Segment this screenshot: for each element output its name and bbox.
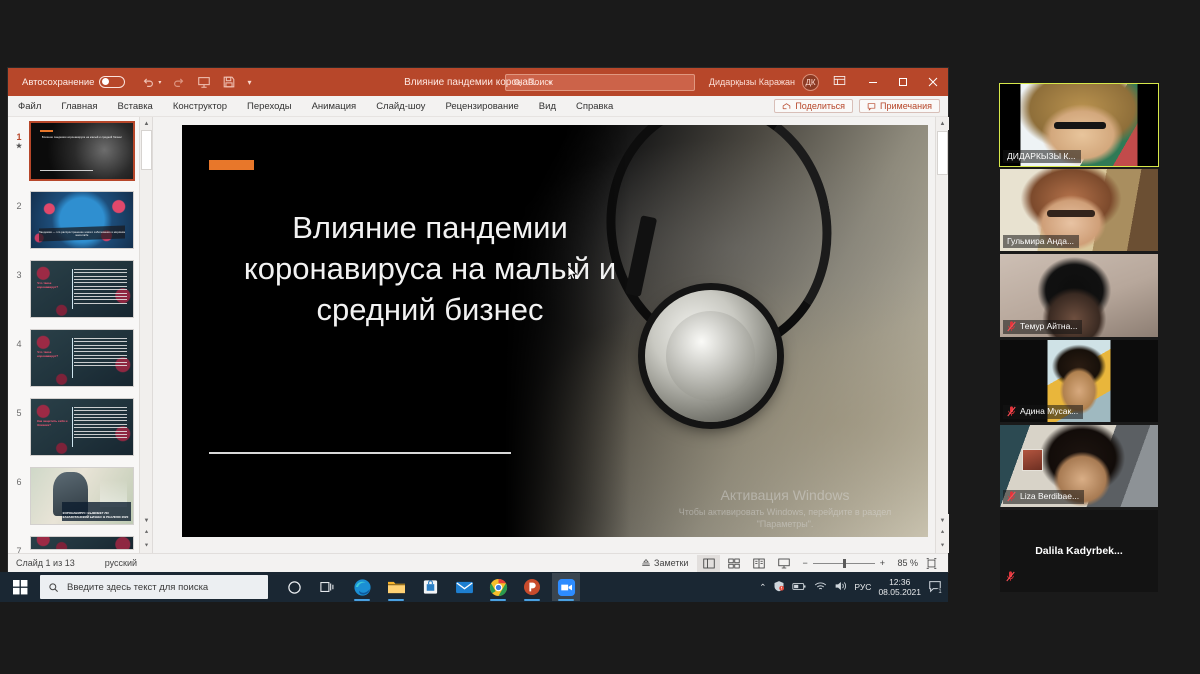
tab-review[interactable]: Рецензирование	[435, 96, 528, 117]
participant-name-bar: Liza Berdibae...	[1003, 490, 1084, 504]
edge-icon[interactable]	[348, 573, 376, 601]
thumbnail-item-7[interactable]: 7	[8, 536, 139, 553]
thumbnail-preview[interactable]	[30, 536, 134, 550]
thumbnail-caption: КОРОНАВИРУС: ВЫЖИВЕТ ЛИ КАЗАХСТАНСКИЙ БИ…	[63, 512, 130, 520]
thumbnail-number: 2	[8, 191, 30, 212]
thumbnail-number: 4	[8, 329, 30, 350]
comments-button[interactable]: Примечания	[859, 99, 940, 113]
normal-view-icon[interactable]	[697, 555, 720, 572]
accent-bar	[40, 130, 53, 132]
thumbnail-item-5[interactable]: 5 Как защитить себя и близких?	[8, 398, 139, 456]
mouse-cursor-icon	[567, 265, 578, 281]
status-bar: Слайд 1 из 13 русский Заметки	[8, 553, 948, 572]
user-name[interactable]: Дидарқызы Каражан	[709, 77, 795, 87]
powerpoint-icon[interactable]	[518, 573, 546, 601]
scrollbar-thumb[interactable]	[937, 131, 948, 175]
battery-icon[interactable]	[792, 581, 807, 594]
clock-date: 08.05.2021	[878, 587, 921, 597]
text-lines	[74, 269, 127, 306]
title-dropdown-icon[interactable]: ▾	[548, 80, 552, 87]
minimize-button[interactable]	[858, 68, 888, 96]
zoom-level[interactable]: 85 %	[892, 558, 918, 568]
redo-icon[interactable]	[172, 75, 186, 89]
thumbnail-preview[interactable]: Как защитить себя и близких?	[30, 398, 134, 456]
thumbnail-item-3[interactable]: 3 Что такое коронавирус?	[8, 260, 139, 318]
customize-qat-icon[interactable]: ▾	[247, 78, 251, 87]
current-slide[interactable]: Влияние пандемии коронавируса на малый и…	[182, 125, 928, 537]
participant-tile[interactable]: Темур Айтна...	[1000, 254, 1158, 336]
thumbnail-preview[interactable]: Что такое коронавирус?	[30, 260, 134, 318]
search-icon	[48, 582, 59, 593]
slideshow-icon[interactable]	[772, 555, 795, 572]
thumbnail-item-2[interactable]: 2 Пандемия — это распространение нового …	[8, 191, 139, 249]
windows-taskbar: Введите здесь текст для поиска	[0, 572, 948, 602]
tab-slideshow[interactable]: Слайд-шоу	[366, 96, 435, 117]
participant-name: ДИДАРКЫЗЫ К...	[1007, 151, 1076, 161]
divider-line	[72, 407, 73, 447]
thumbnail-preview[interactable]: Влияние пандемии коронавируса на малый и…	[30, 122, 134, 180]
ribbon-tabs: Файл Главная Вставка Конструктор Переход…	[8, 96, 948, 117]
quick-access-toolbar: ▾ ▾	[141, 75, 251, 89]
text-lines	[74, 407, 127, 441]
participant-name-bar: Адина Мусак...	[1003, 405, 1083, 419]
clock-time: 12:36	[878, 577, 921, 587]
reading-view-icon[interactable]	[747, 555, 770, 572]
scrollbar-thumb[interactable]	[141, 130, 152, 170]
watermark-line-2: Чтобы активировать Windows, перейдите в …	[660, 506, 910, 531]
participant-tile[interactable]: Адина Мусак...	[1000, 340, 1158, 422]
zoom-icon[interactable]	[552, 573, 580, 601]
zoom-out-button[interactable]: −	[802, 558, 807, 568]
windows-start-icon[interactable]	[0, 572, 40, 602]
tab-transitions[interactable]: Переходы	[237, 96, 302, 117]
document-title[interactable]: Влияние пандемии коронав...	[404, 77, 542, 88]
zoom-in-button[interactable]: +	[880, 558, 885, 568]
thumbnail-caption: Что такое коронавирус?	[37, 351, 68, 359]
chevron-up-icon[interactable]: ⌃	[759, 582, 766, 593]
wall-picture	[1022, 449, 1043, 470]
undo-dropdown-icon[interactable]: ▾	[158, 79, 161, 86]
comments-label: Примечания	[880, 101, 932, 111]
undo-icon[interactable]	[141, 75, 155, 89]
cortana-icon[interactable]	[280, 573, 308, 601]
participant-name: Liza Berdibae...	[1020, 491, 1079, 501]
taskbar-icons	[280, 573, 580, 601]
task-view-icon[interactable]	[314, 573, 342, 601]
autosave-switch[interactable]	[99, 76, 125, 88]
previous-slide-icon[interactable]: ⯅	[936, 527, 949, 540]
file-explorer-icon[interactable]	[382, 573, 410, 601]
title-bar-right: Поиск Дидарқызы Каражан ДК	[505, 68, 948, 96]
thumbnail-preview[interactable]: КОРОНАВИРУС: ВЫЖИВЕТ ЛИ КАЗАХСТАНСКИЙ БИ…	[30, 467, 134, 525]
zoom-slider[interactable]: − +	[802, 558, 885, 568]
notes-icon	[641, 558, 651, 568]
notes-button[interactable]: Заметки	[634, 558, 695, 568]
taskbar-search-input[interactable]: Введите здесь текст для поиска	[40, 575, 268, 599]
chrome-icon[interactable]	[484, 573, 512, 601]
participant-tile[interactable]: ДИДАРКЫЗЫ К...	[1000, 84, 1158, 166]
participant-name-bar: Темур Айтна...	[1003, 320, 1082, 334]
slide-sorter-icon[interactable]	[722, 555, 745, 572]
thumbnail-number: 3	[8, 260, 30, 281]
notification-count: 1	[936, 588, 944, 596]
scroll-down-icon[interactable]: ▼	[936, 514, 949, 527]
thumbnail-list: 1 ★ Влияние пандемии коронавируса на мал…	[8, 117, 139, 553]
participant-name-bar: ДИДАРКЫЗЫ К...	[1003, 150, 1081, 163]
thumbnail-number: 5	[8, 398, 30, 419]
title-bar: Автосохранение ▾	[8, 68, 948, 96]
slide-canvas-area: Влияние пандемии коронавируса на малый и…	[153, 117, 948, 553]
animation-star-icon: ★	[8, 143, 30, 151]
slide-thumbnail-pane[interactable]: 1 ★ Влияние пандемии коронавируса на мал…	[8, 117, 153, 553]
scroll-down-icon[interactable]: ▼	[140, 514, 153, 527]
microsoft-store-icon[interactable]	[416, 573, 444, 601]
next-slide-icon[interactable]: ⯆	[936, 540, 949, 553]
share-button[interactable]: Поделиться	[774, 99, 853, 113]
screen: Автосохранение ▾	[0, 0, 1200, 674]
thumbnail-item-1[interactable]: 1 ★ Влияние пандемии коронавируса на мал…	[8, 122, 139, 180]
thumbnail-caption: Пандемия — это распространение нового за…	[36, 231, 128, 238]
taskbar-search-placeholder: Введите здесь текст для поиска	[67, 582, 208, 593]
share-label: Поделиться	[795, 101, 845, 111]
ribbon-actions: Поделиться Примечания	[774, 99, 948, 113]
status-bar-right: Заметки − + 85 %	[634, 555, 948, 572]
muted-microphone-icon	[1007, 491, 1016, 502]
windows-activation-watermark: Активация Windows Чтобы активировать Win…	[660, 485, 910, 531]
thumbnail-caption: Влияние пандемии коронавируса на малый и…	[36, 136, 128, 140]
slide-counter[interactable]: Слайд 1 из 13	[16, 558, 75, 568]
ribbon-display-options-icon[interactable]	[833, 74, 846, 90]
thumbnail-preview[interactable]: Что такое коронавирус?	[30, 329, 134, 387]
participant-name: Dalila Kadyrbek...	[1035, 545, 1123, 557]
participant-name: Гульмира Анда...	[1007, 236, 1074, 246]
zoom-track[interactable]	[813, 563, 875, 564]
thumbnail-number: 1 ★	[8, 122, 30, 151]
tab-file[interactable]: Файл	[8, 96, 51, 117]
clock[interactable]: 12:36 08.05.2021	[878, 577, 921, 597]
thumbnail-item-6[interactable]: 6 КОРОНАВИРУС: ВЫЖИВЕТ ЛИ КАЗАХСТАНСКИЙ …	[8, 467, 139, 525]
tab-design[interactable]: Конструктор	[163, 96, 237, 117]
thumbnail-caption: Что такое коронавирус?	[37, 282, 68, 290]
watermark-line-1: Активация Windows	[660, 485, 910, 506]
mail-icon[interactable]	[450, 573, 478, 601]
slide-vertical-scrollbar[interactable]: ▲ ▼ ⯅ ⯆	[935, 117, 948, 553]
thumbnail-number: 7	[8, 536, 30, 553]
participant-name-bar: Гульмира Анда...	[1003, 235, 1079, 248]
language-indicator[interactable]: русский	[105, 558, 137, 568]
close-button[interactable]	[918, 68, 948, 96]
security-icon[interactable]	[773, 580, 785, 594]
muted-microphone-icon	[1007, 406, 1016, 417]
divider-line	[40, 170, 93, 171]
tray-language[interactable]: РУС	[854, 582, 871, 592]
tab-animations[interactable]: Анимация	[302, 96, 367, 117]
tab-view[interactable]: Вид	[529, 96, 566, 117]
text-lines	[74, 338, 127, 369]
muted-microphone-icon	[1006, 569, 1015, 587]
tab-home[interactable]: Главная	[51, 96, 107, 117]
start-presentation-icon[interactable]	[197, 75, 211, 89]
editor-body: 1 ★ Влияние пандемии коронавируса на мал…	[8, 117, 948, 553]
thumbnail-caption: Как защитить себя и близких?	[37, 420, 68, 428]
thumbnail-number: 6	[8, 467, 30, 488]
muted-microphone-icon	[1007, 321, 1016, 332]
save-icon[interactable]	[222, 75, 236, 89]
participant-tile[interactable]: Dalila Kadyrbek...	[1000, 510, 1158, 592]
thumbnail-scrollbar[interactable]: ▲ ▼ ⯅ ⯆	[139, 117, 152, 553]
action-center-icon[interactable]: 1	[928, 579, 942, 595]
participant-tile[interactable]: Liza Berdibae...	[1000, 425, 1158, 507]
divider-line	[72, 338, 73, 378]
title-underline	[209, 452, 511, 454]
autosave-label: Автосохранение	[22, 77, 94, 88]
scroll-up-icon[interactable]: ▲	[936, 117, 949, 130]
slide-dark-overlay	[182, 125, 630, 537]
participant-tile[interactable]: Гульмира Анда...	[1000, 169, 1158, 251]
accent-bar	[209, 160, 254, 170]
notes-label: Заметки	[654, 558, 688, 568]
divider-line	[72, 269, 73, 309]
participant-name: Адина Мусак...	[1020, 406, 1078, 416]
thumbnail-preview[interactable]: Пандемия — это распространение нового за…	[30, 191, 134, 249]
thumbnail-item-4[interactable]: 4 Что такое коронавирус?	[8, 329, 139, 387]
comment-icon	[867, 102, 876, 111]
avatar[interactable]: ДК	[802, 74, 819, 91]
wifi-icon[interactable]	[814, 581, 827, 594]
previous-slide-icon[interactable]: ⯅	[140, 527, 153, 540]
fit-to-window-icon[interactable]	[920, 555, 943, 572]
powerpoint-window: Автосохранение ▾	[8, 68, 948, 572]
restore-button[interactable]	[888, 68, 918, 96]
tab-insert[interactable]: Вставка	[108, 96, 163, 117]
participant-name: Темур Айтна...	[1020, 321, 1077, 331]
zoom-participant-strip: ДИДАРКЫЗЫ К... Гульмира Анда... Темур Ай…	[1000, 84, 1158, 592]
slide-title[interactable]: Влияние пандемии коронавируса на малый и…	[195, 208, 665, 331]
zoom-handle[interactable]	[843, 559, 846, 568]
volume-icon[interactable]	[834, 580, 847, 594]
system-tray: ⌃ РУС 12:36 08.05.2021 1	[759, 577, 948, 597]
next-slide-icon[interactable]: ⯆	[140, 540, 153, 553]
scroll-up-icon[interactable]: ▲	[140, 117, 153, 130]
tab-help[interactable]: Справка	[566, 96, 623, 117]
share-icon	[782, 102, 791, 111]
autosave-toggle[interactable]: Автосохранение	[22, 76, 125, 88]
